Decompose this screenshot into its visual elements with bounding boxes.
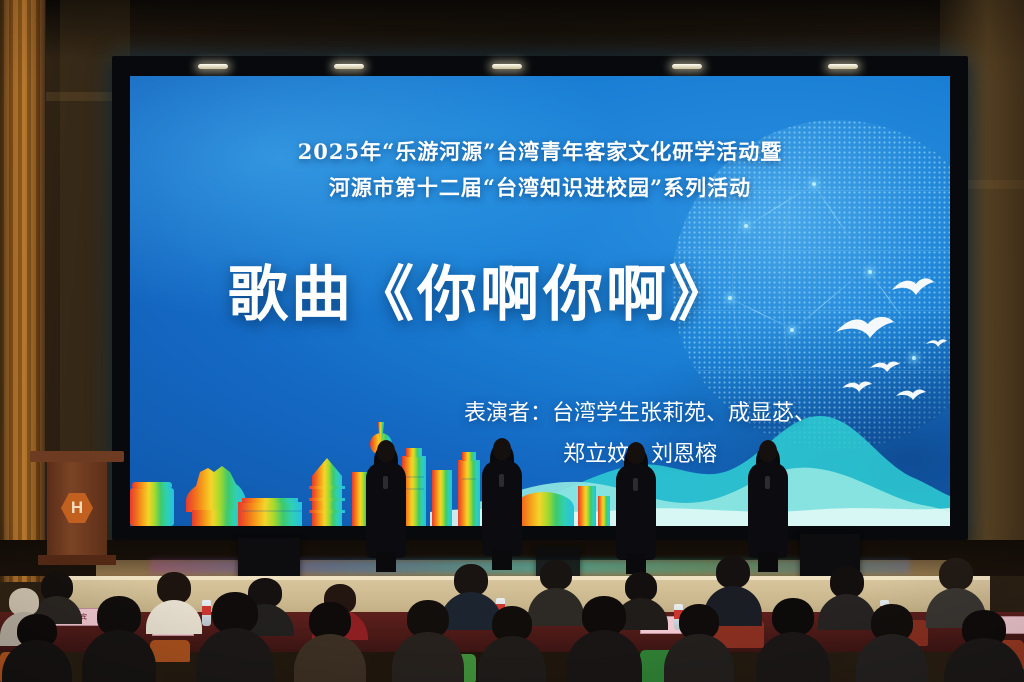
auditorium-photo: 2025年“乐游河源”台湾青年客家文化研学活动暨 河源市第十二届“台湾知识进校园… <box>0 0 1024 682</box>
ceiling-light-1 <box>198 64 228 69</box>
flying-birds <box>830 272 948 408</box>
chair <box>150 640 190 662</box>
performer-legs <box>376 552 396 572</box>
performer-head <box>759 440 777 462</box>
audience-member <box>82 596 156 682</box>
head <box>939 558 973 590</box>
audience-member <box>756 598 830 682</box>
head <box>716 556 750 588</box>
audience-member <box>944 610 1024 682</box>
audience-member <box>566 596 642 682</box>
audience-member <box>196 592 274 682</box>
audience-member <box>478 606 546 682</box>
screen-song-title: 歌曲《你啊你啊》 <box>130 246 830 333</box>
audience-member <box>664 604 734 682</box>
shoulders <box>392 632 464 682</box>
shoulders <box>566 630 642 682</box>
microphone <box>499 474 504 487</box>
shoulders <box>294 634 366 682</box>
ceiling-light-4 <box>672 64 702 69</box>
microphone <box>765 476 770 489</box>
lectern: H <box>30 451 124 569</box>
lectern-base <box>38 555 116 565</box>
audience-member <box>392 600 464 682</box>
performer-head <box>627 442 645 464</box>
shoulders <box>756 632 830 682</box>
audience-member <box>2 614 72 682</box>
stage-monitor-speaker-left <box>238 538 300 580</box>
shoulders <box>944 638 1024 682</box>
microphone <box>633 478 638 491</box>
performer-legs <box>626 554 646 574</box>
ceiling-shadow <box>0 0 1024 60</box>
shoulders <box>2 640 72 682</box>
performer-head <box>493 438 511 460</box>
shoulders <box>664 634 734 682</box>
ceiling-light-2 <box>334 64 364 69</box>
head <box>772 598 814 636</box>
audience-member <box>856 604 928 682</box>
ceiling-light-5 <box>828 64 858 69</box>
head <box>540 560 572 590</box>
led-screen-frame: 2025年“乐游河源”台湾青年客家文化研学活动暨 河源市第十二届“台湾知识进校园… <box>112 56 968 540</box>
screen-performers-line1: 表演者：台湾学生张莉苑、成显苾、 <box>380 394 900 435</box>
lectern-top <box>30 451 124 462</box>
led-screen-content: 2025年“乐游河源”台湾青年客家文化研学活动暨 河源市第十二届“台湾知识进校园… <box>130 76 950 526</box>
screen-headline-line2: 河源市第十二届“台湾知识进校园”系列活动 <box>130 172 950 202</box>
shoulders <box>82 630 156 682</box>
performer-head <box>377 440 395 462</box>
shoulders <box>478 636 546 682</box>
ceiling-light-3 <box>492 64 522 69</box>
screen-headline-line1: 2025年“乐游河源”台湾青年客家文化研学活动暨 <box>130 136 950 166</box>
audience-member <box>294 602 366 682</box>
microphone <box>383 476 388 489</box>
shoulders <box>196 628 274 682</box>
shoulders <box>856 634 928 682</box>
